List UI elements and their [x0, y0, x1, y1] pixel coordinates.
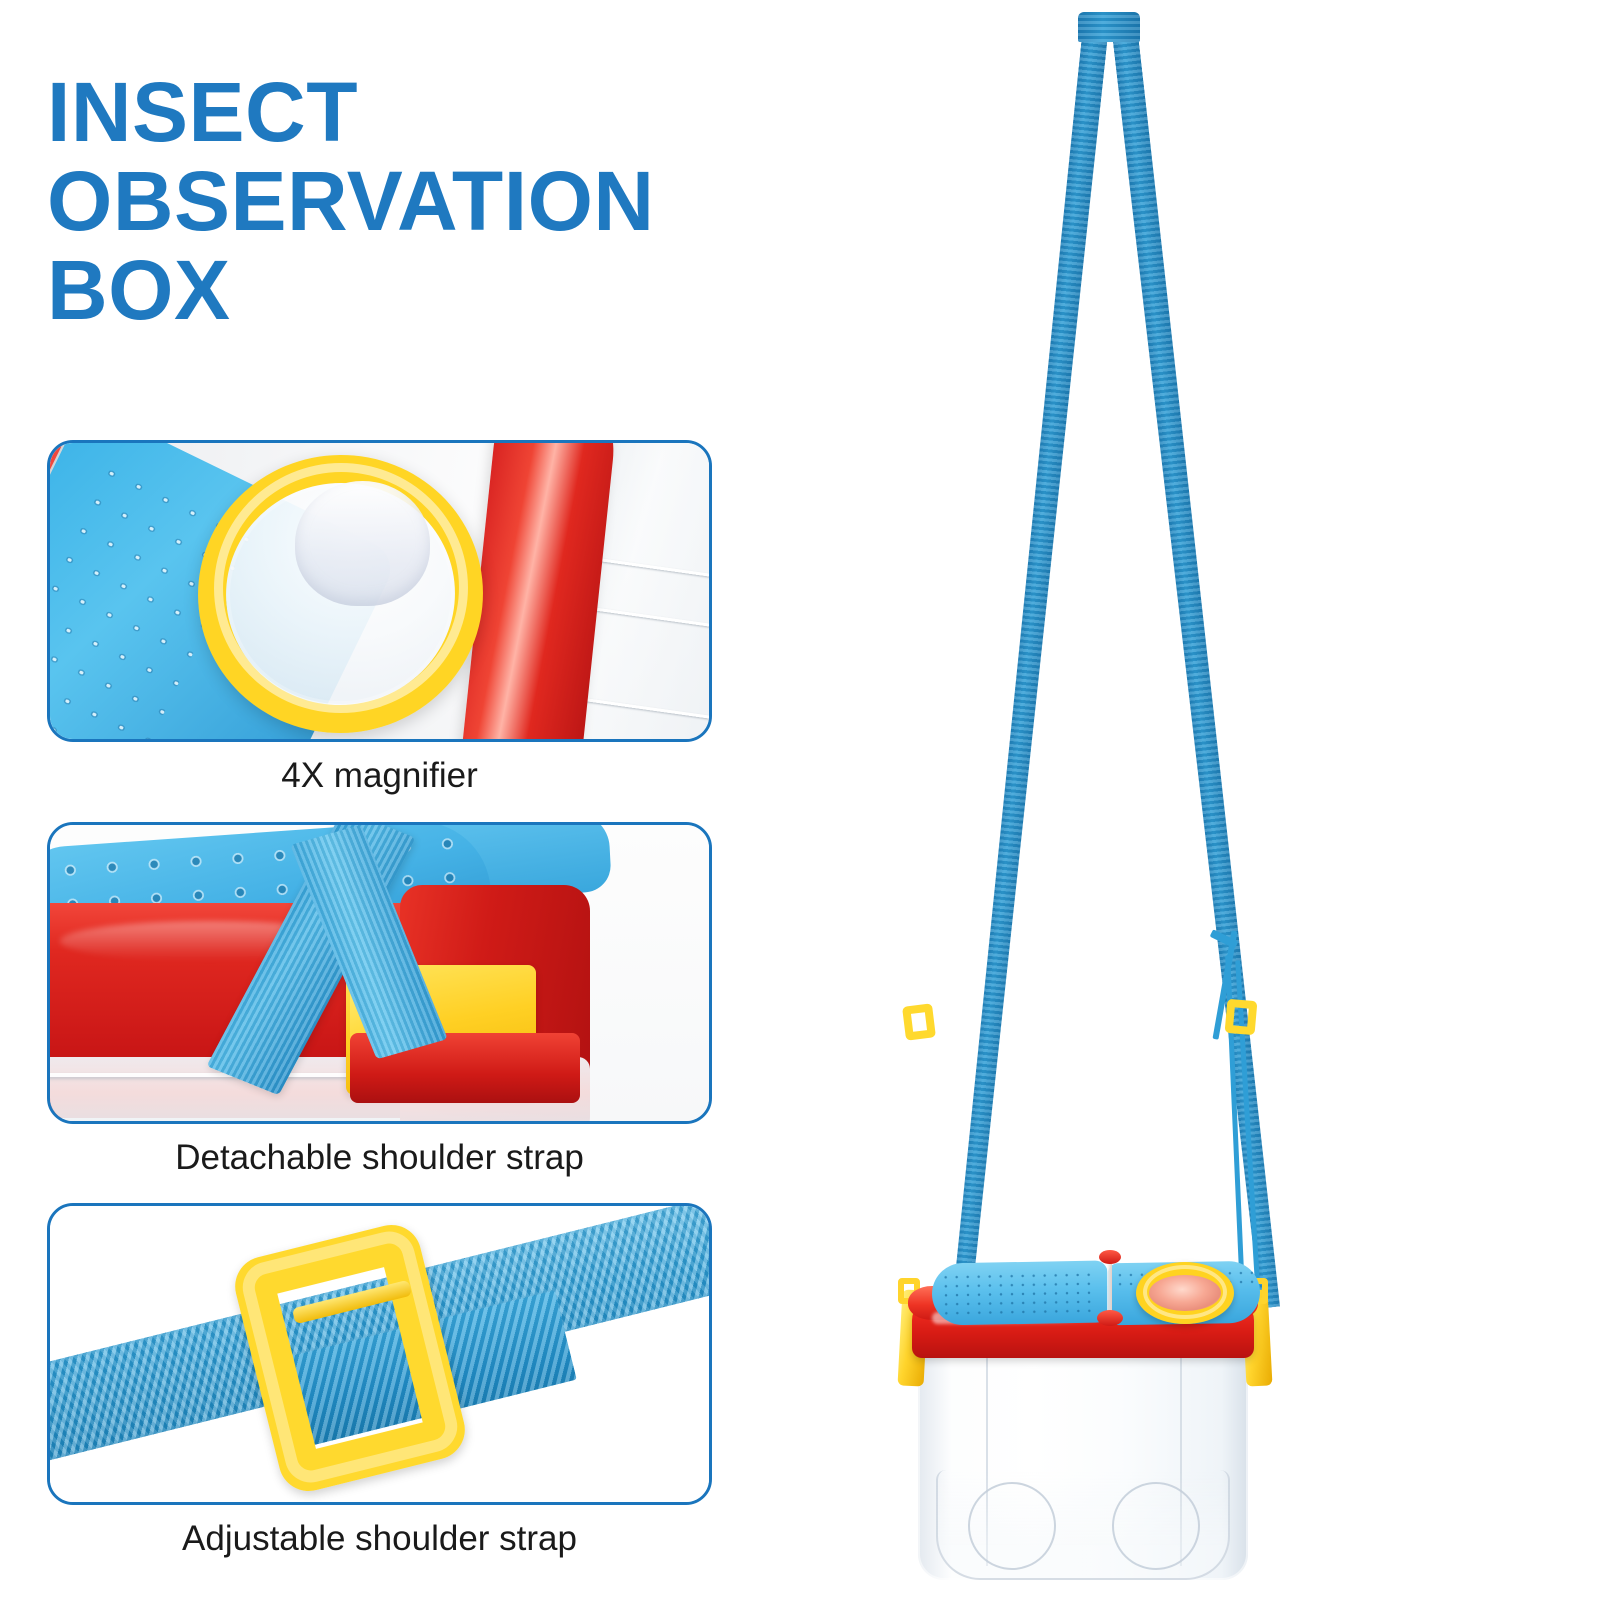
vent-holes-left	[942, 1271, 1099, 1318]
feature-image-magnifier	[47, 440, 712, 742]
title-line-2: OBSERVATION	[47, 157, 867, 246]
feature-image-detachable-strap	[47, 822, 712, 1124]
feature-card-detachable-strap: Detachable shoulder strap	[47, 822, 712, 1178]
yellow-slider-buckle-left	[902, 1003, 936, 1040]
container-bottom-arc	[968, 1482, 1056, 1570]
title-line-3: BOX	[47, 246, 867, 335]
red-center-pin-bottom	[1097, 1310, 1123, 1326]
feature-caption-adjustable-strap: Adjustable shoulder strap	[47, 1519, 712, 1559]
magnifier-lens	[295, 481, 430, 606]
product-hero-image	[840, 0, 1602, 1602]
magnifier-ring-highlight	[1143, 1265, 1227, 1319]
feature-card-adjustable-strap: Adjustable shoulder strap	[47, 1203, 712, 1559]
red-center-pin-top	[1099, 1250, 1121, 1264]
feature-caption-detachable-strap: Detachable shoulder strap	[47, 1138, 712, 1178]
title-line-1: INSECT	[47, 68, 867, 157]
feature-caption-magnifier: 4X magnifier	[47, 756, 712, 796]
page-title: INSECT OBSERVATION BOX	[47, 68, 867, 335]
feature-image-adjustable-strap	[47, 1203, 712, 1505]
shoulder-strap-fold	[1078, 12, 1140, 42]
shoulder-strap-left-leg	[948, 15, 1110, 1311]
container-bottom-arc	[1112, 1482, 1200, 1570]
yellow-slider-buckle-right	[1225, 999, 1258, 1035]
lid-latch-rod	[1107, 1258, 1112, 1316]
feature-card-magnifier: 4X magnifier	[47, 440, 712, 796]
shoulder-strap-right-leg	[1110, 15, 1283, 1310]
